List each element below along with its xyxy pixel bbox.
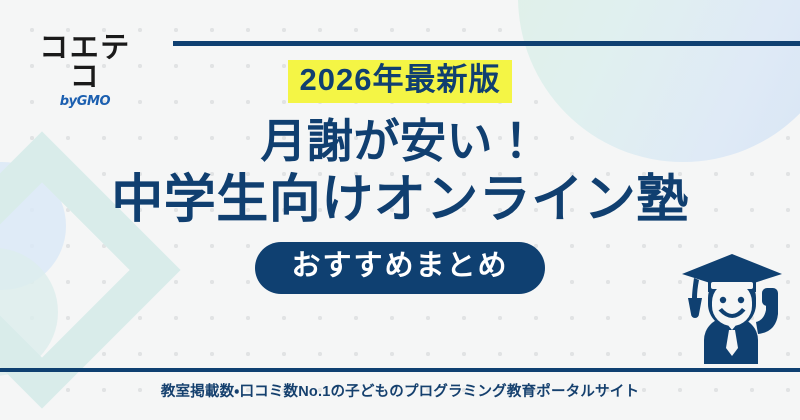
page-title-line-2: 中学生向けオンライン塾	[0, 172, 800, 228]
recommendation-pill-button[interactable]: おすすめまとめ	[255, 242, 544, 293]
banner-root: コエテコ byGMO 2026年最新版 月謝が安い！ 中学生向けオンライン塾 お…	[0, 0, 800, 420]
year-badge: 2026年最新版	[288, 60, 513, 103]
year-badge-row: 2026年最新版	[0, 60, 800, 103]
page-title-line-1: 月謝が安い！	[0, 117, 800, 167]
footer-tagline: 教室掲載数・口コミ数No.1の子どものプログラミング教育ポータルサイト	[0, 380, 800, 401]
horizontal-navy-rule-top	[173, 41, 800, 46]
graduate-student-icon	[678, 252, 786, 364]
horizontal-navy-rule-bottom	[0, 368, 800, 372]
